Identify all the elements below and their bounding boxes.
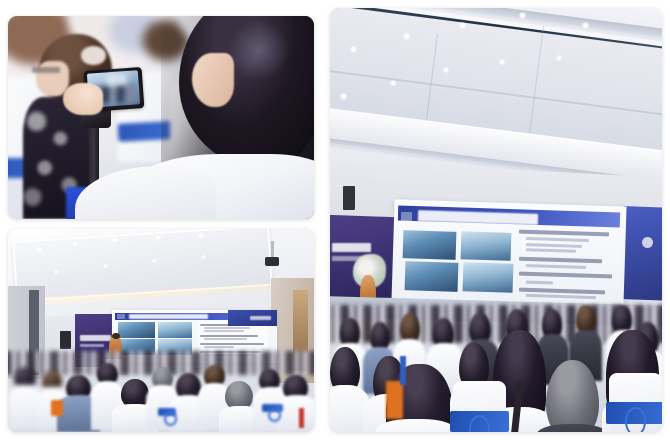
slide-subline-1a	[204, 327, 250, 329]
slide-image-battery-compartment	[462, 262, 513, 292]
slide-image-fleet	[118, 322, 155, 337]
woman-left-bun	[81, 46, 105, 64]
slide-bullet-3	[200, 343, 264, 345]
chair-sash-ring	[164, 412, 177, 426]
foreground-woman-hair-highlight	[228, 20, 289, 81]
ceiling-downlight-4	[519, 12, 526, 18]
photo-attendee-filming-with-phone	[8, 16, 314, 219]
side-banner-headline	[80, 335, 111, 341]
slide-title-text	[129, 314, 209, 318]
slide-subline-3a	[204, 346, 235, 348]
slide-subline-2a	[204, 338, 247, 340]
slide-subline-3a	[526, 280, 553, 284]
chair-sash-ring	[268, 408, 281, 422]
ceiling-downlight-5	[198, 233, 204, 237]
slide-image-fleet	[403, 230, 457, 260]
slide-subline-1b	[204, 330, 244, 332]
woman-left-glasses	[32, 67, 60, 73]
ceiling-camera	[265, 257, 279, 265]
wall-speaker-left	[343, 186, 354, 210]
slide-image-surface-ship	[461, 231, 512, 261]
ceiling-downlight-10	[556, 55, 562, 61]
audience-body	[277, 395, 314, 432]
slide-image-submarine	[404, 262, 458, 292]
attendee-lanyard	[400, 356, 407, 386]
side-banner-headline	[332, 243, 372, 252]
foreground-woman-face	[192, 53, 235, 108]
smartphone-screen-stage-glow	[106, 73, 128, 87]
ceiling-downlight-4	[155, 235, 161, 239]
raised-hand	[63, 83, 103, 115]
chair-sash-ring	[625, 407, 646, 432]
attendee-orange-bag	[51, 400, 63, 416]
attendee-orange-bag	[386, 381, 403, 419]
stage-blue-panel-right	[621, 206, 662, 301]
ceiling-downlight-1	[36, 247, 43, 252]
slide-number-chip	[117, 314, 125, 319]
audience-body-foreground	[376, 419, 456, 432]
secondary-screen-logo	[250, 316, 271, 319]
side-banner-subline	[80, 344, 104, 347]
ceiling-downlight-6	[340, 93, 347, 100]
photo-conference-hall-audience-and-screen	[330, 8, 662, 432]
slide-bullet-2	[200, 335, 258, 337]
ceiling-downlight-2	[403, 33, 410, 40]
photo-conference-hall-wide-shot	[8, 229, 314, 432]
left-speaker-box	[60, 331, 71, 349]
photo-collage	[0, 0, 670, 441]
slide-number-chip	[401, 211, 412, 223]
slide-image-surface-ship	[158, 322, 192, 337]
aisle-red-marker	[299, 408, 304, 428]
